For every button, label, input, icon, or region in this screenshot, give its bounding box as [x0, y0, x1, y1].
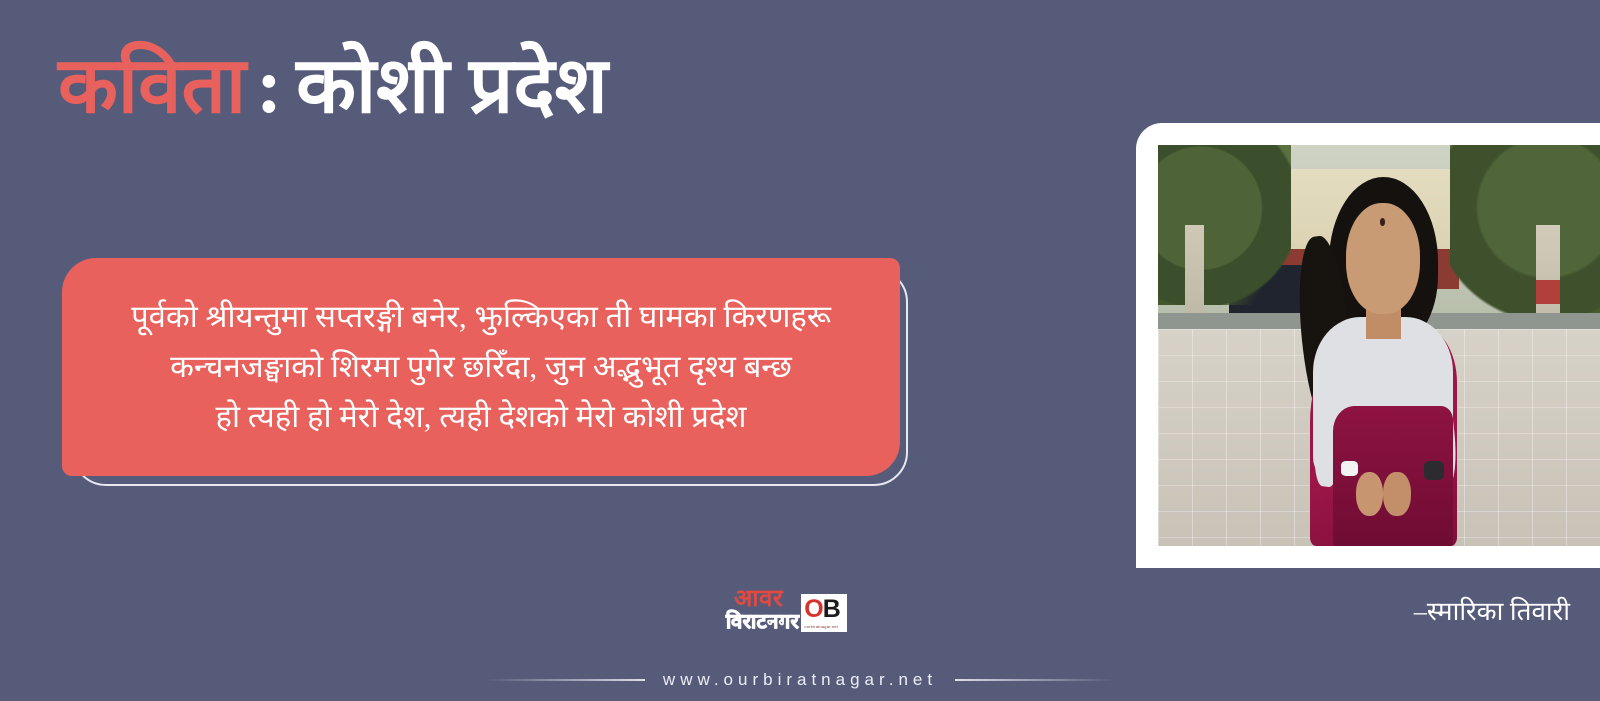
quote-card-wrapper: पूर्वको श्रीयन्तुमा सप्तरङ्गी बनेर, झुल्… — [62, 258, 910, 488]
photo-person — [1286, 177, 1480, 546]
ourbiratnagar-logo[interactable]: आवर विराटनगर OB ourbiratnagar.net — [726, 584, 872, 632]
title-word-kavita: कविता — [58, 47, 246, 125]
title-word-koshi-pradesh: कोशी प्रदेश — [296, 47, 608, 125]
author-credit: –स्मारिका तिवारी — [1414, 592, 1570, 628]
quote-line-2: कन्चनजङ्घाको शिरमा पुगेर छरिँदा, जुन अद्… — [170, 342, 792, 392]
logo-badge-ob: OB ourbiratnagar.net — [801, 594, 847, 632]
logo-text-awar: आवर — [734, 587, 783, 611]
photo-person-watch — [1424, 461, 1443, 479]
footer-rule-right — [955, 679, 1115, 681]
quote-line-1: पूर्वको श्रीयन्तुमा सप्तरङ्गी बनेर, झुल्… — [131, 292, 831, 342]
quote-line-3: हो त्यही हो मेरो देश, त्यही देशको मेरो क… — [216, 392, 747, 442]
logo-badge-url: ourbiratnagar.net — [804, 624, 838, 629]
footer-website-url[interactable]: www.ourbiratnagar.net — [663, 670, 937, 690]
photo-person-hand-left — [1356, 472, 1383, 516]
logo-badge-letter-b: B — [823, 595, 840, 623]
logo-text-biratnagar: विराटनगर — [726, 612, 799, 632]
photo-person-bangle — [1341, 461, 1359, 476]
logo-badge-letter-o: O — [804, 595, 822, 623]
photo-person-hand-right — [1383, 472, 1410, 516]
footer-rule-left — [485, 679, 645, 681]
author-photo-frame — [1136, 123, 1600, 568]
author-photo — [1158, 145, 1600, 546]
photo-person-bindi — [1380, 218, 1386, 226]
logo-wordmark: आवर विराटनगर — [726, 587, 799, 632]
title-separator: : — [246, 47, 296, 125]
logo-badge-letters: OB — [804, 597, 840, 622]
footer-bar: www.ourbiratnagar.net — [0, 658, 1600, 701]
page-title: कविता : कोशी प्रदेश — [58, 26, 1058, 146]
poem-poster: कविता : कोशी प्रदेश पूर्वको श्रीयन्तुमा … — [0, 0, 1600, 701]
photo-tree-left — [1158, 145, 1291, 305]
quote-card: पूर्वको श्रीयन्तुमा सप्तरङ्गी बनेर, झुल्… — [62, 258, 900, 476]
